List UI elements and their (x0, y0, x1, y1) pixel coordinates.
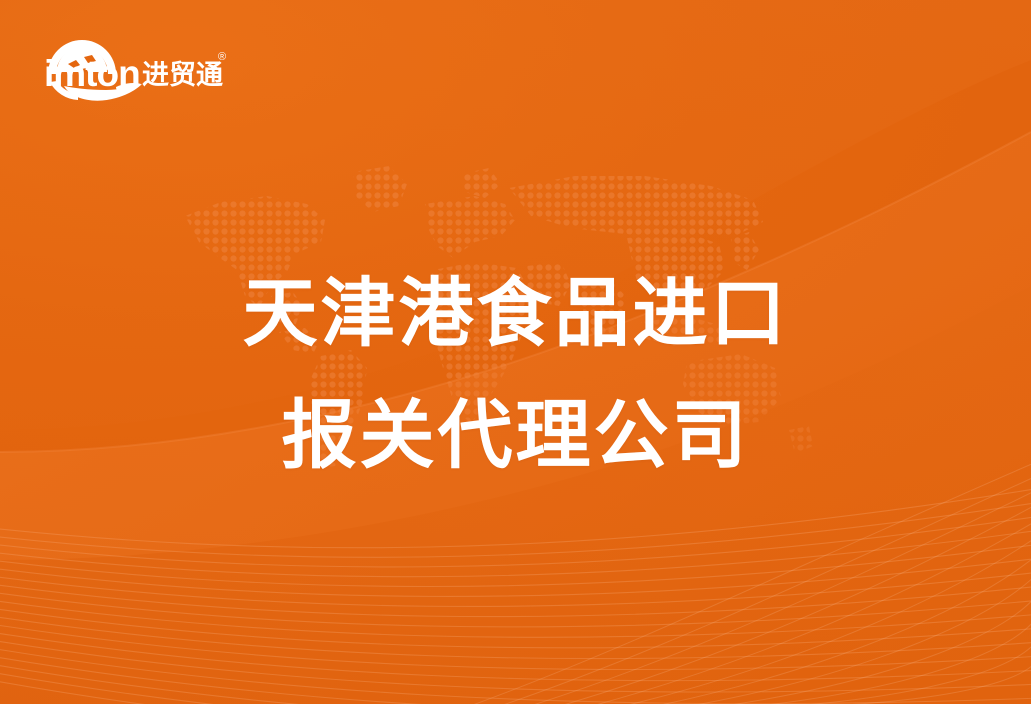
brand-logo[interactable]: imton 进贸通 ® (38, 30, 228, 104)
logo-chinese-name: 进贸通 (142, 60, 223, 90)
poster-canvas: imton 进贸通 ® 天津港食品进口 报关代理公司 (0, 0, 1031, 704)
logo-wordmark: imton (44, 53, 140, 94)
logo-trademark-icon: ® (218, 51, 226, 63)
page-title-line-1: 天津港食品进口 (0, 252, 1031, 374)
page-title: 天津港食品进口 报关代理公司 (0, 252, 1031, 496)
page-title-line-2: 报关代理公司 (0, 374, 1031, 496)
